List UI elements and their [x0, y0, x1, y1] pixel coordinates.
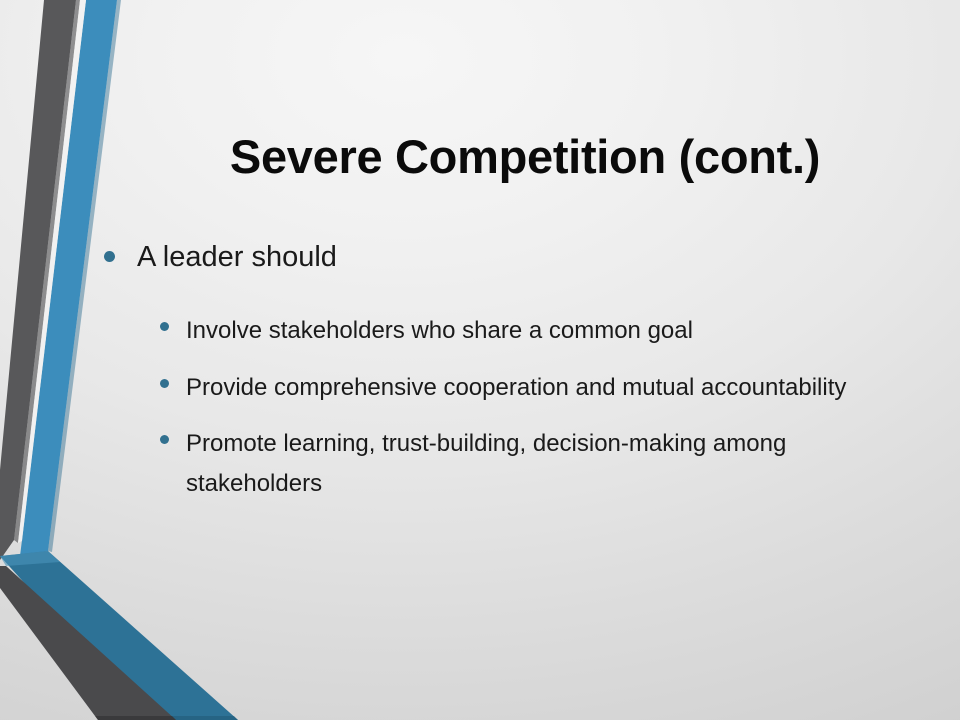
bullet-item-level2: Promote learning, trust-building, decisi…: [160, 407, 924, 503]
title-placeholder: Severe Competition (cont.): [130, 112, 920, 202]
content-placeholder: A leader should Involve stakeholders who…: [104, 238, 924, 504]
gray-band-upper: [0, 0, 76, 560]
page-title: Severe Competition (cont.): [230, 132, 820, 181]
bullet-item-level2: Provide comprehensive cooperation and mu…: [160, 351, 924, 408]
bullet-item-level2: Involve stakeholders who share a common …: [160, 294, 924, 351]
bullet-text: Involve stakeholders who share a common …: [186, 311, 693, 351]
gray-band-lower: [0, 566, 176, 720]
bullet-dot-icon: [160, 322, 169, 331]
blue-band-upper: [20, 0, 117, 556]
bullet-text: Promote learning, trust-building, decisi…: [186, 424, 886, 503]
gray-band-lower-shadow: [95, 716, 176, 720]
blue-band-lower-highlight: [0, 551, 60, 566]
bullet-item-level1: A leader should: [104, 238, 924, 276]
gray-band-shadow-upper: [14, 0, 80, 543]
blue-band-lower-shadow: [146, 716, 238, 720]
bullet-dot-icon: [104, 251, 115, 262]
bullet-text: A leader should: [137, 238, 337, 276]
blue-band-lower: [0, 551, 238, 720]
bullet-dot-icon: [160, 435, 169, 444]
bullet-dot-icon: [160, 379, 169, 388]
white-sliver-upper: [18, 0, 86, 543]
bullet-text: Provide comprehensive cooperation and mu…: [186, 368, 846, 408]
presentation-slide: Severe Competition (cont.) A leader shou…: [0, 0, 960, 720]
